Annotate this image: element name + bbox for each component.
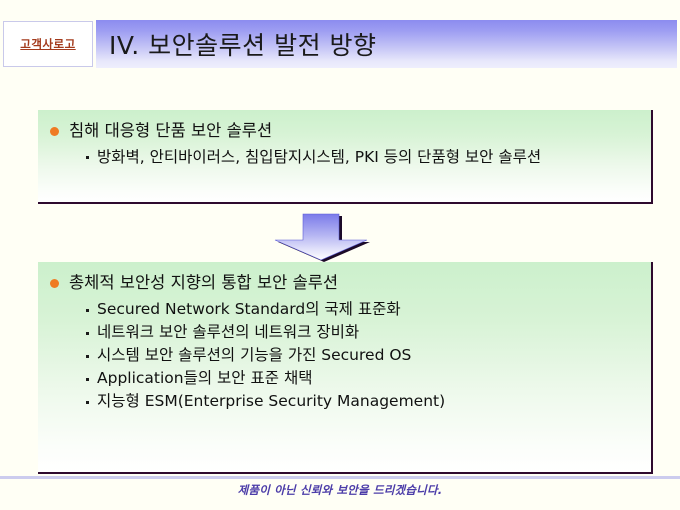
list-item-label: 방화벽, 안티바이러스, 침입탐지시스템, PKI 등의 단품형 보안 솔루션 [97, 146, 541, 168]
square-bullet-icon [86, 332, 89, 335]
client-logo-box: 고객사로고 [3, 21, 93, 67]
list-item: Application들의 보안 표준 채택 [38, 367, 651, 389]
square-bullet-icon [86, 156, 89, 159]
panel-lead-row: 침해 대응형 단품 보안 솔루션 [38, 110, 651, 142]
list-item: 지능형 ESM(Enterprise Security Management) [38, 390, 651, 412]
list-item-label: 네트워크 보안 솔루션의 네트워크 장비화 [97, 321, 359, 343]
down-arrow-icon [273, 210, 373, 262]
panel-sub-list: Secured Network Standard의 국제 표준화 네트워크 보안… [38, 298, 651, 412]
square-bullet-icon [86, 401, 89, 404]
footer-divider [0, 476, 680, 479]
panel-lead-label: 총체적 보안성 지향의 통합 보안 솔루션 [69, 272, 338, 294]
panel-lead-row: 총체적 보안성 지향의 통합 보안 솔루션 [38, 262, 651, 294]
list-item: 네트워크 보안 솔루션의 네트워크 장비화 [38, 321, 651, 343]
slide-title-bar: IV. 보안솔루션 발전 방향 [96, 20, 677, 68]
list-item-label: 시스템 보안 솔루션의 기능을 가진 Secured OS [97, 344, 411, 366]
list-item: 방화벽, 안티바이러스, 침입탐지시스템, PKI 등의 단품형 보안 솔루션 [38, 146, 651, 168]
list-item: 시스템 보안 솔루션의 기능을 가진 Secured OS [38, 344, 651, 366]
client-logo-label: 고객사로고 [20, 36, 75, 52]
square-bullet-icon [86, 378, 89, 381]
content-panel-integrated-solutions: 총체적 보안성 지향의 통합 보안 솔루션 Secured Network St… [38, 262, 653, 474]
panel-sub-list: 방화벽, 안티바이러스, 침입탐지시스템, PKI 등의 단품형 보안 솔루션 [38, 146, 651, 168]
list-item-label: Application들의 보안 표준 채택 [97, 367, 312, 389]
square-bullet-icon [86, 309, 89, 312]
content-panel-single-solutions: 침해 대응형 단품 보안 솔루션 방화벽, 안티바이러스, 침입탐지시스템, P… [38, 110, 653, 204]
panel-lead-label: 침해 대응형 단품 보안 솔루션 [69, 120, 272, 142]
square-bullet-icon [86, 355, 89, 358]
page-title: IV. 보안솔루션 발전 방향 [96, 26, 377, 62]
orange-bullet-icon [50, 127, 59, 136]
list-item: Secured Network Standard의 국제 표준화 [38, 298, 651, 320]
list-item-label: Secured Network Standard의 국제 표준화 [97, 298, 401, 320]
footer-tagline: 제품이 아닌 신뢰와 보안을 드리겠습니다. [0, 482, 680, 498]
list-item-label: 지능형 ESM(Enterprise Security Management) [97, 390, 445, 412]
orange-bullet-icon [50, 279, 59, 288]
slide-header: 고객사로고 IV. 보안솔루션 발전 방향 [0, 20, 680, 68]
